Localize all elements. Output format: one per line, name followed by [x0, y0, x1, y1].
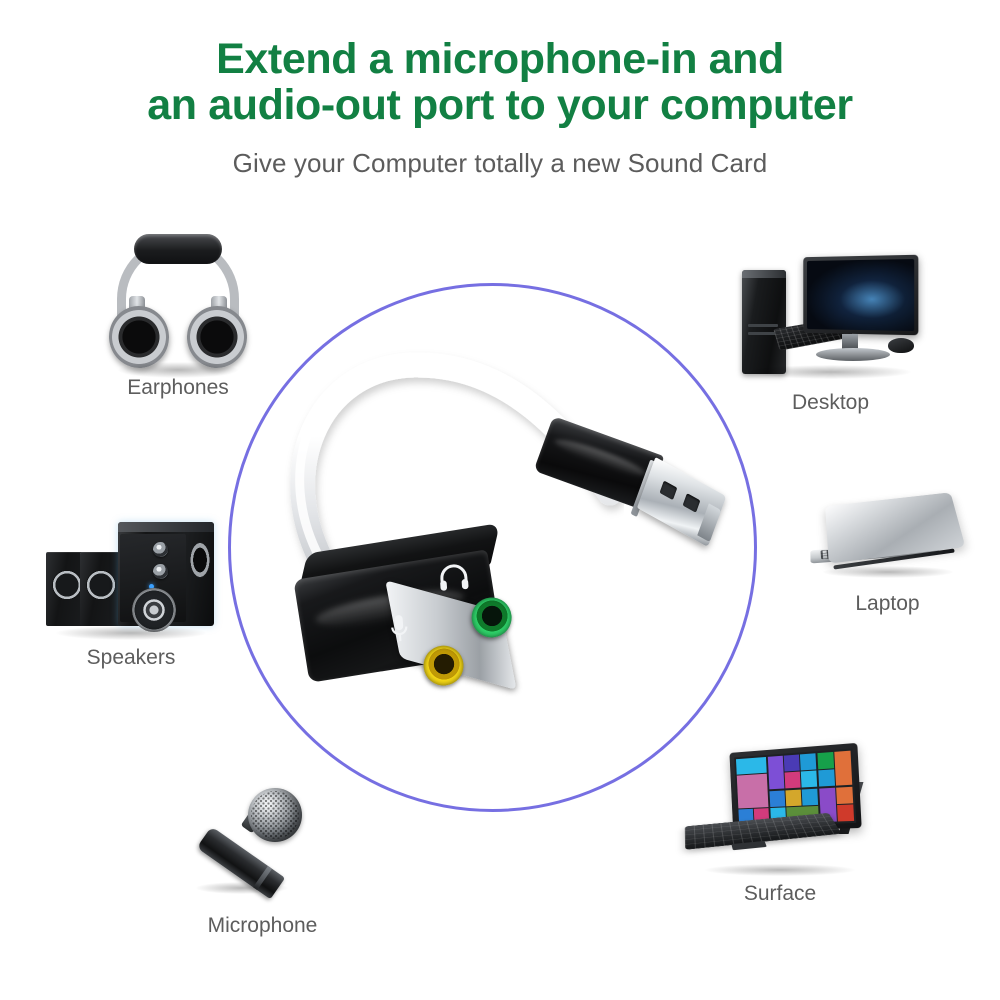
laptop-icon: [805, 488, 970, 588]
microphone-illustration: [155, 780, 370, 910]
drop-shadow: [705, 864, 855, 876]
desktop-computer-icon: [738, 252, 923, 387]
headline-line-1: Extend a microphone-in and: [216, 35, 784, 83]
drop-shadow: [118, 362, 238, 378]
subwoofer-bass-port: [190, 542, 210, 578]
device-cell-laptop: Laptop: [800, 488, 975, 616]
device-cell-earphones: Earphones: [48, 232, 308, 400]
monitor-stand-base: [816, 348, 890, 361]
device-label-laptop: Laptop: [800, 592, 975, 616]
headphone-icon: [438, 562, 470, 592]
speakers-icon: [46, 512, 216, 642]
microphone-icon: [387, 613, 411, 646]
surface-tablet-icon: [680, 748, 880, 878]
device-label-microphone: Microphone: [155, 914, 370, 938]
drop-shadow: [56, 626, 206, 640]
pc-monitor-screen: [807, 259, 914, 331]
device-cell-surface: Surface: [680, 748, 880, 906]
bass-knob: [153, 564, 168, 579]
microphone-icon: [188, 780, 338, 910]
device-label-surface: Surface: [680, 882, 880, 906]
satellite-driver: [52, 570, 82, 600]
microphone-grille-head: [248, 788, 302, 842]
usb-metal-contact-shell: [637, 457, 726, 547]
headphones-head-pad: [134, 234, 222, 264]
drop-shadow: [196, 882, 288, 894]
page-subheadline: Give your Computer totally a new Sound C…: [0, 148, 1000, 179]
volume-knob: [153, 542, 168, 557]
drop-shadow: [823, 566, 953, 578]
satellite-speaker-right: [80, 552, 122, 626]
product-infographic-page: { "page": { "background_color": "#ffffff…: [0, 0, 1000, 1000]
desktop-illustration: [718, 252, 943, 387]
speakers-illustration: [36, 512, 226, 642]
usb-shell-gloss: [553, 434, 648, 480]
device-cell-microphone: Microphone: [155, 780, 370, 938]
subwoofer-top: [118, 522, 214, 532]
device-cell-desktop: Desktop: [718, 252, 943, 415]
pc-mouse: [888, 338, 914, 353]
headphones-icon: [103, 232, 253, 372]
sound-card-housing: [290, 523, 521, 704]
satellite-driver: [86, 570, 116, 600]
pc-monitor: [803, 255, 918, 336]
device-label-speakers: Speakers: [36, 646, 226, 670]
device-label-desktop: Desktop: [718, 391, 943, 415]
laptop-illustration: [800, 488, 975, 588]
page-headline: Extend a microphone-in and an audio-out …: [0, 36, 1000, 129]
surface-illustration: [680, 748, 880, 878]
headline-line-2: an audio-out port to your computer: [0, 82, 1000, 128]
device-cell-speakers: Speakers: [36, 512, 226, 670]
pc-tower-top: [742, 270, 786, 278]
device-label-earphones: Earphones: [48, 376, 308, 400]
pc-tower: [742, 270, 786, 374]
earphones-illustration: [48, 232, 308, 372]
drop-shadow: [751, 365, 911, 379]
pc-drive-bay: [748, 324, 778, 327]
